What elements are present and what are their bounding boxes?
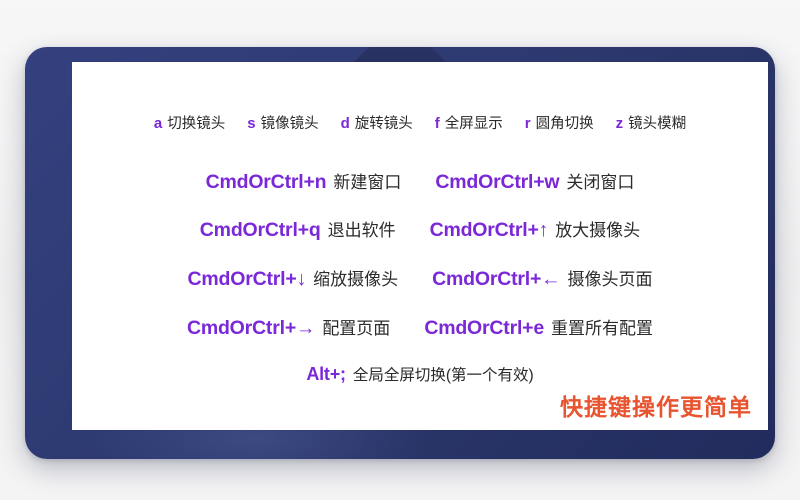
- shortcut-key: CmdOrCtrl+←: [432, 268, 560, 291]
- shortcut-item-shrink-camera: CmdOrCtrl+↓ 缩放摄像头: [188, 265, 399, 291]
- shortcut-key: CmdOrCtrl+↑: [430, 219, 549, 242]
- shortcut-item-settings-page: CmdOrCtrl+→ 配置页面: [187, 314, 390, 340]
- desktop-backdrop: CAMERA PLACE åå a 切换镜头 s 镜像镜头 d: [0, 0, 800, 500]
- shortcut-desc: 摄像头页面: [567, 265, 652, 290]
- shortcut-item-z: z 镜头模糊: [616, 112, 687, 133]
- shortcut-key: CmdOrCtrl+e: [424, 317, 544, 340]
- shortcut-item-d: d 旋转镜头: [341, 112, 413, 133]
- shortcut-desc: 放大摄像头: [555, 216, 640, 241]
- shortcut-key: z: [616, 115, 624, 132]
- single-key-row: a 切换镜头 s 镜像镜头 d 旋转镜头 f 全屏显示: [72, 112, 768, 133]
- shortcut-key: CmdOrCtrl+↓: [188, 268, 307, 291]
- shortcut-key: CmdOrCtrl+q: [200, 219, 321, 242]
- shortcut-desc: 关闭窗口: [566, 168, 634, 193]
- shortcut-key: Alt+;: [306, 364, 346, 385]
- shortcut-key: CmdOrCtrl+→: [187, 317, 315, 340]
- shortcut-item-camera-page: CmdOrCtrl+← 摄像头页面: [432, 265, 652, 291]
- shortcut-item-new-window: CmdOrCtrl+n 新建窗口: [206, 168, 402, 194]
- combo-row-new-close: CmdOrCtrl+n 新建窗口 CmdOrCtrl+w 关闭窗口: [72, 168, 768, 194]
- combo-row-global-fullscreen: Alt+; 全局全屏切换(第一个有效): [72, 363, 768, 385]
- shortcut-item-quit-app: CmdOrCtrl+q 退出软件: [200, 216, 396, 242]
- shortcut-card-inner: a 切换镜头 s 镜像镜头 d 旋转镜头 f 全屏显示: [72, 62, 768, 430]
- shortcut-desc: 缩放摄像头: [313, 265, 398, 290]
- shortcut-item-close-window: CmdOrCtrl+w 关闭窗口: [435, 168, 634, 194]
- shortcut-key: d: [341, 115, 350, 132]
- shortcut-item-f: f 全屏显示: [435, 112, 503, 133]
- shortcut-item-s: s 镜像镜头: [247, 112, 318, 133]
- shortcut-key: f: [435, 115, 440, 132]
- shortcut-item-a: a 切换镜头: [154, 112, 225, 133]
- app-window: CAMERA PLACE åå a 切换镜头 s 镜像镜头 d: [25, 47, 775, 459]
- shortcut-card: a 切换镜头 s 镜像镜头 d 旋转镜头 f 全屏显示: [72, 62, 768, 430]
- shortcut-key: a: [154, 115, 162, 132]
- shortcut-desc: 配置页面: [322, 314, 390, 339]
- shortcut-desc: 镜头模糊: [628, 112, 686, 133]
- combo-row-zoomout-camerapage: CmdOrCtrl+↓ 缩放摄像头 CmdOrCtrl+← 摄像头页面: [72, 265, 768, 291]
- shortcut-desc: 旋转镜头: [355, 112, 413, 133]
- shortcut-key: CmdOrCtrl+w: [435, 171, 559, 194]
- shortcut-desc: 圆角切换: [536, 112, 594, 133]
- shortcut-desc: 退出软件: [328, 216, 396, 241]
- shortcut-desc: 重置所有配置: [551, 314, 653, 339]
- combo-row-quit-zoomin: CmdOrCtrl+q 退出软件 CmdOrCtrl+↑ 放大摄像头: [72, 216, 768, 242]
- combo-row-settings-reset: CmdOrCtrl+→ 配置页面 CmdOrCtrl+e 重置所有配置: [72, 314, 768, 340]
- shortcut-desc: 全局全屏切换(第一个有效): [353, 363, 534, 385]
- shortcut-desc: 新建窗口: [333, 168, 401, 193]
- shortcut-item-global-fullscreen: Alt+; 全局全屏切换(第一个有效): [306, 363, 533, 385]
- shortcut-key: CmdOrCtrl+n: [206, 171, 327, 194]
- shortcut-desc: 全屏显示: [445, 112, 503, 133]
- shortcut-key: r: [525, 115, 531, 132]
- tagline: 快捷键操作更简单: [560, 388, 752, 422]
- shortcut-desc: 切换镜头: [167, 112, 225, 133]
- shortcut-item-enlarge-camera: CmdOrCtrl+↑ 放大摄像头: [430, 216, 641, 242]
- shortcut-desc: 镜像镜头: [261, 112, 319, 133]
- shortcut-item-reset-all: CmdOrCtrl+e 重置所有配置: [424, 314, 653, 340]
- shortcut-item-r: r 圆角切换: [525, 112, 594, 133]
- shortcut-key: s: [247, 115, 255, 132]
